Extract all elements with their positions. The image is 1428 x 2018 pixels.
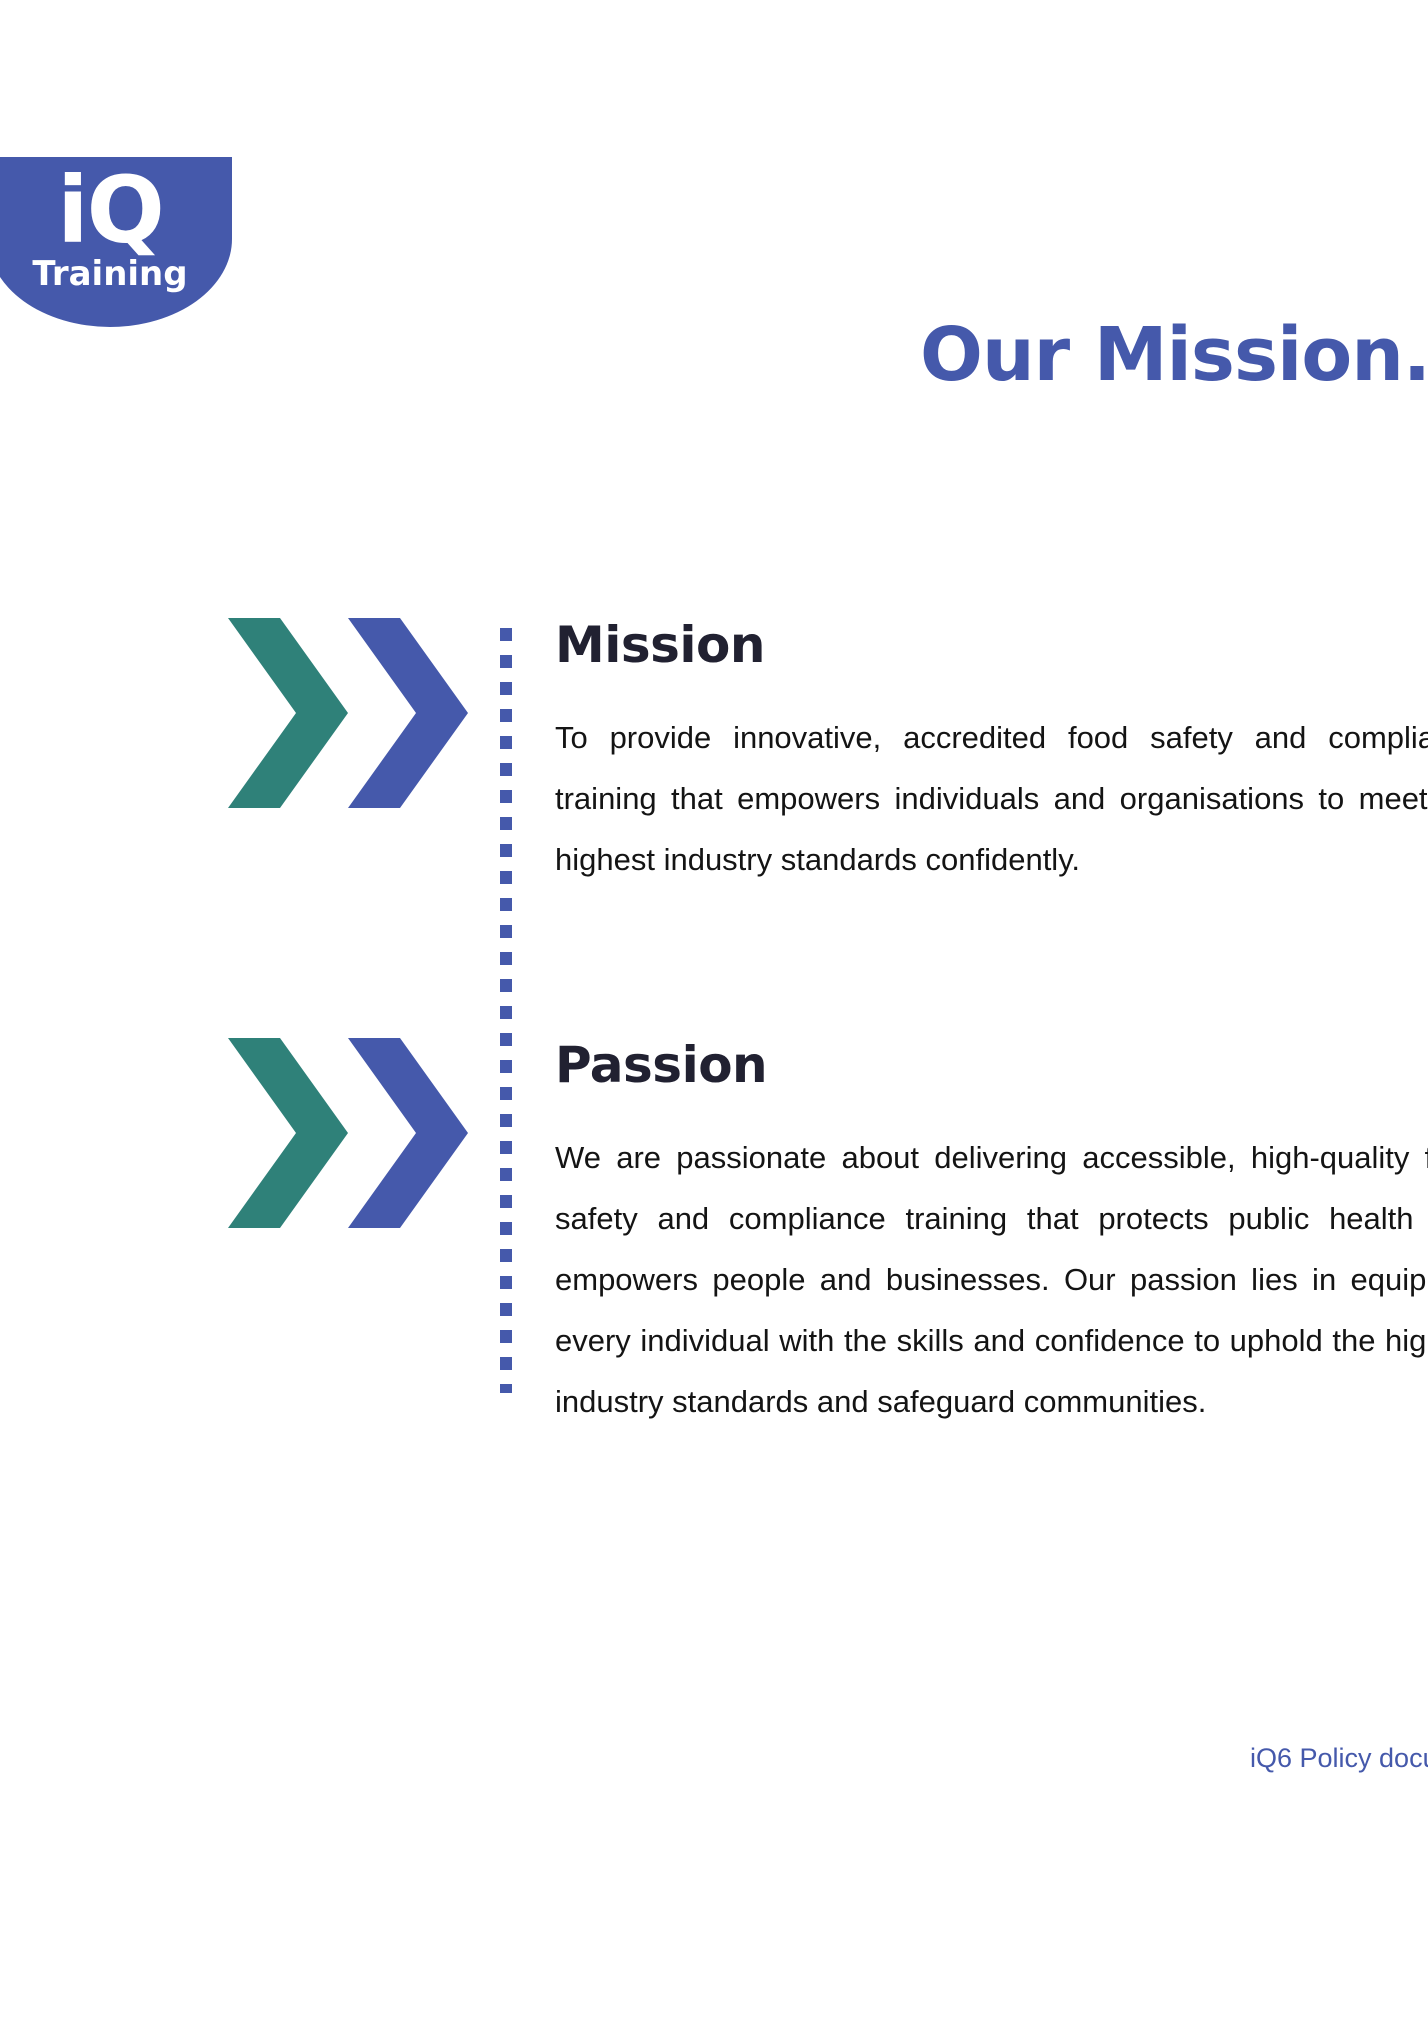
logo-iq-text: iQ bbox=[0, 165, 232, 257]
section-passion-text: We are passionate about delivering acces… bbox=[555, 1127, 1428, 1432]
chevron-blue-icon bbox=[348, 1038, 468, 1228]
brand-logo: iQ Training bbox=[0, 157, 232, 327]
section-mission-text: To provide innovative, accredited food s… bbox=[555, 707, 1428, 890]
section-passion-body: Passion We are passionate about deliveri… bbox=[555, 1038, 1428, 1432]
chevron-teal-icon bbox=[228, 618, 348, 808]
chevron-blue-icon bbox=[348, 618, 468, 808]
section-mission-body: Mission To provide innovative, accredite… bbox=[555, 618, 1428, 890]
section-mission-heading: Mission bbox=[555, 618, 1428, 673]
section-passion-heading: Passion bbox=[555, 1038, 1428, 1093]
page-title: Our Mission. bbox=[620, 318, 1428, 392]
dotted-divider bbox=[500, 628, 512, 1393]
double-chevron-right-icon bbox=[228, 618, 468, 808]
chevron-teal-icon bbox=[228, 1038, 348, 1228]
footer-document-label: iQ6 Policy document bbox=[1250, 1742, 1428, 1774]
double-chevron-right-icon bbox=[228, 1038, 468, 1228]
logo-training-text: Training bbox=[0, 257, 232, 291]
